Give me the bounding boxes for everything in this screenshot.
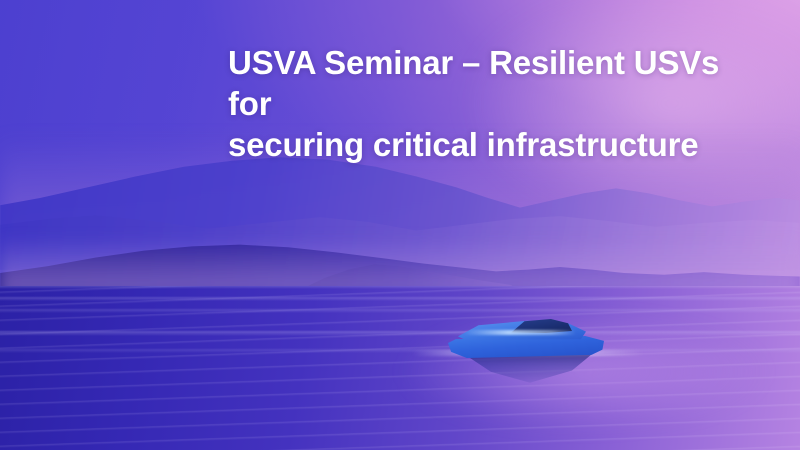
slide-title: USVA Seminar – Resilient USVs for securi… bbox=[228, 42, 768, 165]
usv-vessel bbox=[448, 318, 604, 358]
logo-row: Co-funded by the European Union Regional… bbox=[0, 370, 800, 450]
presentation-slide: USVA Seminar – Resilient USVs for securi… bbox=[0, 0, 800, 450]
title-line-2: securing critical infrastructure bbox=[228, 124, 768, 165]
vessel-highlight bbox=[464, 330, 576, 335]
title-line-1: USVA Seminar – Resilient USVs for bbox=[228, 42, 768, 124]
